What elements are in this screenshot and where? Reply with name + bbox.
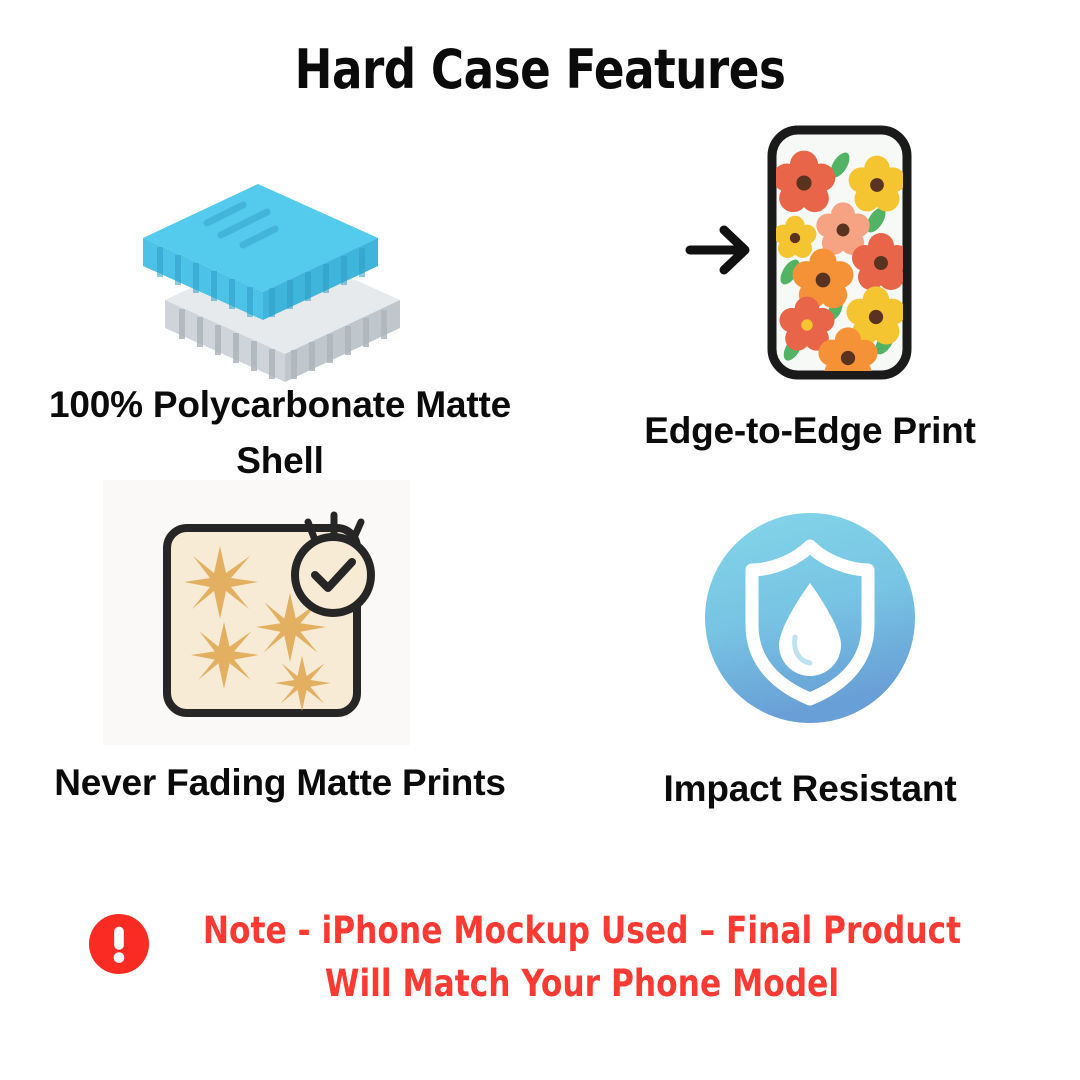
matte-print-sparkle-check-icon [145,470,415,745]
disclaimer-note-text: Note - iPhone Mockup Used – Final Produc… [197,905,968,1010]
feature-impact: Impact Resistant [560,500,1060,817]
hard-case-features-infographic: Hard Case Features [0,0,1080,1080]
feature-impact-label: Impact Resistant [560,761,1060,817]
feature-never-fading: Never Fading Matte Prints [20,470,540,811]
feature-edge-print-icon-wrap [560,120,1060,385]
arrow-right-icon [690,230,745,270]
feature-edge-print: Edge-to-Edge Print [560,120,1060,459]
disclaimer-note: Note - iPhone Mockup Used – Final Produc… [0,905,1080,1010]
feature-impact-icon-wrap [560,500,1060,735]
page-title: Hard Case Features [38,38,1042,101]
feature-polycarbonate-icon-wrap [20,150,540,365]
feature-never-fading-label: Never Fading Matte Prints [20,755,540,811]
feature-polycarbonate: 100% Polycarbonate Matte Shell [20,150,540,489]
stacked-layers-icon [135,150,425,365]
feature-never-fading-icon-wrap [20,470,540,745]
phone-case-floral-print-icon [680,120,940,385]
feature-edge-print-label: Edge-to-Edge Print [560,403,1060,459]
shield-water-droplet-icon [705,513,915,723]
exclamation-circle-icon [88,913,150,975]
